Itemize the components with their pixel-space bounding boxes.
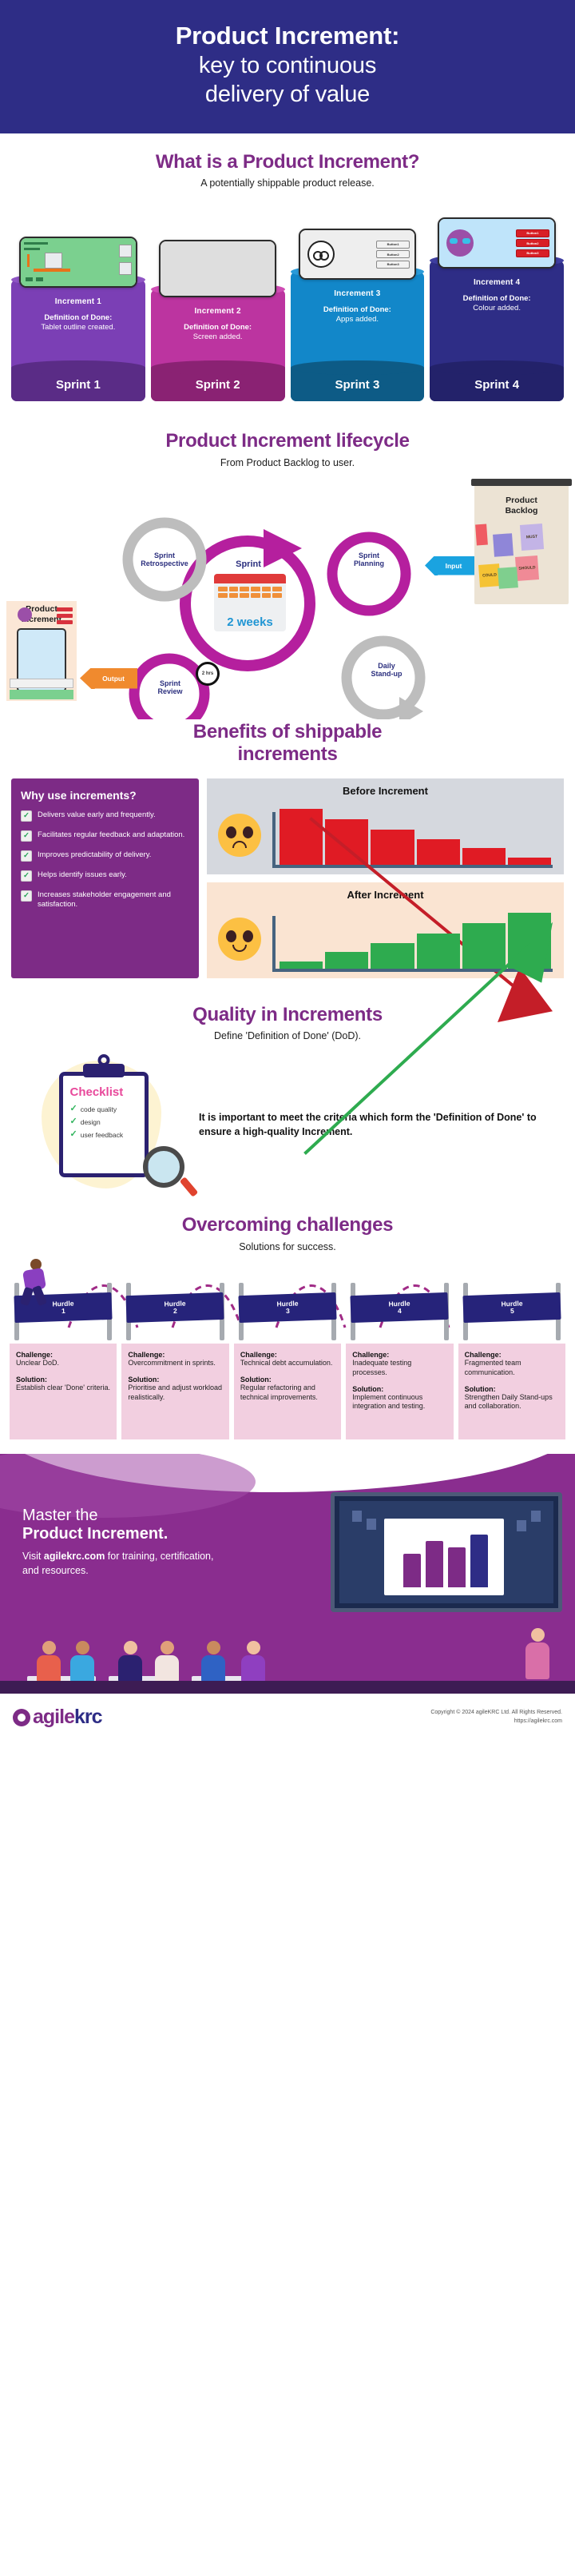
- check-icon: ✓: [21, 850, 32, 862]
- hurdle-2: Hurdle2: [121, 1283, 228, 1340]
- solution-text: Strengthen Daily Stand-ups and collabora…: [465, 1393, 559, 1412]
- increment-label-4: Increment 4: [436, 278, 557, 287]
- input-arrow: Input: [425, 556, 474, 575]
- solution-text: Implement continuous integration and tes…: [352, 1393, 446, 1412]
- dod-label-2: Definition of Done:: [157, 323, 279, 332]
- footer-url[interactable]: https://agilekrc.com: [430, 1718, 562, 1726]
- presentation-screen: [331, 1492, 562, 1612]
- chart-before-title: Before Increment: [215, 785, 556, 797]
- section-benefits: Benefits of shippable increments: [0, 721, 575, 766]
- node-label-line1: Sprint: [160, 679, 180, 687]
- challenge-label: Challenge:: [16, 1351, 110, 1359]
- why-item-text: Facilitates regular feedback and adaptat…: [38, 830, 184, 842]
- hurdle-board: Hurdle2: [126, 1292, 225, 1323]
- device-buttons-3: Button1 Button2 Button3: [376, 241, 410, 269]
- challenge-text: Fragmented team communication.: [465, 1359, 559, 1378]
- why-item-text: Increases stakeholder engagement and sat…: [38, 890, 189, 910]
- cta-line2: Product Increment.: [22, 1525, 230, 1543]
- device-button-2: Button2: [376, 250, 410, 258]
- lifecycle-title: Product Increment lifecycle: [11, 430, 564, 452]
- device-button-3: Button3: [516, 249, 549, 257]
- increment-label-1: Increment 1: [18, 297, 139, 306]
- increment-cylinder-3: Increment 3 Definition of Done: Apps add…: [291, 272, 425, 401]
- solution-card-1: Challenge: Unclear DoD. Solution: Establ…: [10, 1344, 117, 1439]
- page-subtitle-line2: delivery of value: [32, 80, 543, 109]
- hurdle-number: 3: [286, 1307, 290, 1315]
- solution-label: Solution:: [128, 1376, 222, 1384]
- increment-label-2: Increment 2: [157, 307, 279, 316]
- lifecycle-node-retrospective: Sprint Retrospective: [126, 551, 203, 568]
- hurdle-board: Hurdle5: [462, 1292, 561, 1323]
- sprint-label-4: Sprint 4: [474, 378, 519, 392]
- section-what-is: What is a Product Increment? A potential…: [0, 151, 575, 189]
- section-lifecycle: Product Increment lifecycle From Product…: [0, 430, 575, 468]
- person: [240, 1641, 267, 1682]
- lifecycle-diagram: Sprint Retrospective Sprint Sprint Plann…: [0, 480, 575, 719]
- solution-label: Solution:: [16, 1376, 110, 1384]
- crying-face-icon: [218, 814, 261, 857]
- output-label: Output: [102, 675, 125, 683]
- lifecycle-subtitle: From Product Backlog to user.: [11, 457, 564, 468]
- check-icon: ✓: [21, 870, 32, 882]
- hurdle-number: 5: [510, 1307, 514, 1315]
- solution-label: Solution:: [465, 1385, 559, 1393]
- node-label-line2: Review: [157, 687, 182, 695]
- colour-ui-icon: Button1 Button2 Button3: [439, 219, 554, 267]
- dod-text-1: Tablet outline created.: [18, 323, 139, 332]
- what-is-title: What is a Product Increment?: [11, 151, 564, 173]
- header-banner: Product Increment: key to continuous del…: [0, 0, 575, 133]
- cta-line3: Visit agilekrc.com for training, certifi…: [22, 1550, 230, 1579]
- hurdle-3: Hurdle3: [234, 1283, 341, 1340]
- device-mock-1: [19, 237, 137, 288]
- solution-card-2: Challenge: Overcommitment in sprints. So…: [121, 1344, 228, 1439]
- lifecycle-node-planning: Sprint Planning: [339, 551, 399, 568]
- increment-card-1: Increment 1 Definition of Done: Tablet o…: [11, 201, 145, 401]
- checklist-row: ✓ user feedback: [70, 1130, 145, 1139]
- sticky-must: MUST: [520, 524, 544, 551]
- audience-group: [0, 1607, 575, 1694]
- sprint-base-3: Sprint 3: [291, 368, 425, 401]
- node-label-line2: Planning: [354, 559, 384, 567]
- solution-text: Regular refactoring and technical improv…: [240, 1384, 335, 1403]
- lifecycle-node-review: Sprint Review: [142, 679, 198, 696]
- device-button-1: Button1: [376, 241, 410, 249]
- trend-line-up: [277, 906, 553, 1181]
- challenge-label: Challenge:: [128, 1351, 222, 1359]
- stopwatch-icon: 2 hrs: [196, 662, 220, 686]
- device-button-2: Button2: [516, 239, 549, 247]
- node-label-line1: Sprint: [359, 551, 379, 559]
- person: [69, 1641, 96, 1682]
- what-is-subtitle: A potentially shippable product release.: [11, 177, 564, 189]
- y-axis: [272, 916, 276, 972]
- sticky-blank-3: [475, 524, 488, 545]
- hurdle-4: Hurdle4: [346, 1283, 453, 1340]
- checklist-row: ✓ code quality: [70, 1105, 145, 1113]
- increment-cylinder-2: Increment 2 Definition of Done: Screen a…: [151, 289, 285, 401]
- why-item: ✓ Delivers value early and frequently.: [21, 810, 189, 822]
- product-backlog-board: Product Backlog MUST SHOULD COULD: [474, 484, 569, 604]
- footer-copyright: Copyright © 2024 agileKRC Ltd. All Right…: [430, 1709, 562, 1726]
- lifecycle-node-sprint: Sprint: [220, 559, 276, 570]
- benefit-charts: Before Increment: [207, 778, 564, 978]
- dod-label-3: Definition of Done:: [297, 305, 418, 314]
- sprint-label-2: Sprint 2: [196, 378, 240, 392]
- device-mock-2: [159, 240, 277, 297]
- node-label-line1: Daily: [378, 662, 395, 670]
- greyscale-ui-icon: Button1 Button2 Button3: [300, 230, 415, 278]
- device-button-1: Button1: [516, 229, 549, 237]
- solution-text: Establish clear 'Done' criteria.: [16, 1384, 110, 1393]
- hurdles-row: Hurdle1 Hurdle2 Hurdle3 Hurdle4: [0, 1272, 575, 1340]
- hurdle-board: Hurdle3: [238, 1292, 337, 1323]
- node-label-line2: Retrospective: [141, 559, 188, 567]
- solution-cards: Challenge: Unclear DoD. Solution: Establ…: [0, 1344, 575, 1439]
- dod-label-4: Definition of Done:: [436, 294, 557, 303]
- challenge-label: Challenge:: [352, 1351, 446, 1359]
- solution-card-5: Challenge: Fragmented team communication…: [458, 1344, 565, 1439]
- hurdle-number: 1: [61, 1307, 65, 1315]
- slide-board: [384, 1519, 504, 1595]
- increment-card-2: Increment 2 Definition of Done: Screen a…: [151, 201, 285, 401]
- solution-card-4: Challenge: Inadequate testing processes.…: [346, 1344, 453, 1439]
- solution-text: Prioritise and adjust workload realistic…: [128, 1384, 222, 1403]
- hurdle-5: Hurdle5: [458, 1283, 565, 1340]
- page-title: Product Increment:: [32, 21, 543, 51]
- cta-banner: Master the Product Increment. Visit agil…: [0, 1454, 575, 1694]
- page-subtitle-line1: key to continuous: [32, 51, 543, 81]
- table-front: [0, 1681, 575, 1694]
- challenge-text: Technical debt accumulation.: [240, 1359, 335, 1368]
- device-mock-3: Button1 Button2 Button3: [299, 229, 417, 280]
- star-eyes-face-icon: [218, 918, 261, 961]
- challenge-text: Inadequate testing processes.: [352, 1359, 446, 1378]
- challenge-label: Challenge:: [465, 1351, 559, 1359]
- board-rail: [471, 479, 572, 486]
- hurdle-number: 4: [398, 1307, 402, 1315]
- magnifier-icon: [143, 1146, 184, 1188]
- dod-text-3: Apps added.: [297, 315, 418, 324]
- dod-text-2: Screen added.: [157, 332, 279, 341]
- agilekrc-logo[interactable]: agile krc: [13, 1706, 102, 1729]
- infographic-page: Product Increment: key to continuous del…: [0, 0, 575, 2576]
- device-buttons-4: Button1 Button2 Button3: [516, 229, 549, 257]
- solution-label: Solution:: [240, 1376, 335, 1384]
- backlog-title: Product Backlog: [474, 496, 569, 516]
- person: [200, 1641, 227, 1682]
- solution-card-3: Challenge: Technical debt accumulation. …: [234, 1344, 341, 1439]
- why-item-text: Helps identify issues early.: [38, 870, 127, 882]
- logo-mark-icon: [13, 1709, 30, 1726]
- person: [117, 1641, 144, 1682]
- check-icon: ✓: [70, 1117, 77, 1126]
- checklist-item: user feedback: [81, 1131, 123, 1139]
- check-icon: ✓: [70, 1130, 77, 1139]
- why-item-text: Improves predictability of delivery.: [38, 850, 151, 862]
- challenges-subtitle: Solutions for success.: [11, 1241, 564, 1252]
- hurdle-track: Hurdle1 Hurdle2 Hurdle3 Hurdle4: [0, 1264, 575, 1340]
- logo-agile-text: agile: [33, 1706, 74, 1729]
- node-label-line2: Stand-up: [371, 670, 402, 678]
- backlog-title-line1: Product: [506, 496, 537, 505]
- why-item: ✓ Improves predictability of delivery.: [21, 850, 189, 862]
- hurdle-board: Hurdle4: [351, 1292, 450, 1323]
- dod-label-1: Definition of Done:: [18, 313, 139, 322]
- benefits-title-line1: Benefits of shippable: [11, 721, 564, 743]
- sprint-duration-label: 2 weeks: [214, 615, 286, 629]
- cta-text-block: Master the Product Increment. Visit agil…: [22, 1507, 230, 1579]
- check-icon: ✓: [21, 890, 32, 902]
- sprint-base-1: Sprint 1: [11, 368, 145, 401]
- checklist-row: ✓ design: [70, 1117, 145, 1126]
- why-card-title: Why use increments?: [21, 789, 189, 802]
- chart-after-plot: [272, 906, 553, 972]
- increment-cylinder-4: Increment 4 Definition of Done: Colour a…: [430, 261, 564, 401]
- check-icon: ✓: [21, 830, 32, 842]
- circuit-board-icon: [21, 238, 136, 286]
- blank-screen-icon: [161, 241, 276, 296]
- sprint-label-1: Sprint 1: [56, 378, 101, 392]
- checklist-item: code quality: [81, 1105, 117, 1113]
- node-label-line1: Sprint: [236, 559, 261, 569]
- logo-krc-text: krc: [74, 1706, 102, 1729]
- increment-cards: Increment 1 Definition of Done: Tablet o…: [0, 201, 575, 401]
- sticky-should: SHOULD: [515, 555, 539, 581]
- challenge-text: Overcommitment in sprints.: [128, 1359, 222, 1368]
- checklist-illustration: Checklist ✓ code quality ✓ design ✓ user…: [18, 1059, 189, 1191]
- sprint-base-2: Sprint 2: [151, 368, 285, 401]
- presenter: [524, 1628, 551, 1679]
- cta-visit-pre: Visit: [22, 1551, 44, 1562]
- footer: agile krc Copyright © 2024 agileKRC Ltd.…: [0, 1694, 575, 1742]
- why-item: ✓ Increases stakeholder engagement and s…: [21, 890, 189, 910]
- increment-device-icon: [17, 628, 66, 692]
- chart-before-plot: [272, 802, 553, 868]
- runner-icon: [18, 1259, 57, 1308]
- calendar-icon: 2 weeks: [214, 574, 286, 631]
- why-item-text: Delivers value early and frequently.: [38, 810, 156, 822]
- person: [153, 1641, 180, 1682]
- checklist-item: design: [81, 1118, 101, 1126]
- dod-text-4: Colour added.: [436, 304, 557, 313]
- solution-label: Solution:: [352, 1385, 446, 1393]
- why-item: ✓ Facilitates regular feedback and adapt…: [21, 830, 189, 842]
- chart-after-body: [215, 901, 556, 972]
- backlog-title-line2: Backlog: [506, 506, 538, 516]
- output-arrow: Output: [80, 668, 137, 689]
- y-axis: [272, 812, 276, 868]
- person: [35, 1641, 62, 1682]
- input-label: Input: [446, 562, 462, 570]
- cta-line1: Master the: [22, 1507, 230, 1525]
- review-timer-label: 2 hrs: [202, 671, 213, 676]
- benefits-content: Why use increments? ✓ Delivers value ear…: [0, 778, 575, 978]
- hurdle-number: 2: [173, 1307, 177, 1315]
- device-button-3: Button3: [376, 261, 410, 269]
- chart-before-body: [215, 797, 556, 868]
- why-item: ✓ Helps identify issues early.: [21, 870, 189, 882]
- sticky-blank-1: [493, 533, 514, 557]
- increment-label-3: Increment 3: [297, 289, 418, 298]
- check-icon: ✓: [21, 810, 32, 822]
- challenge-text: Unclear DoD.: [16, 1359, 110, 1368]
- why-use-increments-card: Why use increments? ✓ Delivers value ear…: [11, 778, 199, 978]
- sticky-blank-2: [498, 567, 518, 589]
- chart-before-increment: Before Increment: [207, 778, 564, 874]
- node-label-line1: Sprint: [154, 551, 175, 559]
- checklist-title: Checklist: [70, 1085, 145, 1099]
- copyright-text: Copyright © 2024 agileKRC Ltd. All Right…: [430, 1709, 562, 1718]
- increment-cylinder-1: Increment 1 Definition of Done: Tablet o…: [11, 280, 145, 401]
- section-challenges: Overcoming challenges Solutions for succ…: [0, 1214, 575, 1252]
- challenges-title: Overcoming challenges: [11, 1214, 564, 1236]
- clipboard-icon: Checklist ✓ code quality ✓ design ✓ user…: [59, 1072, 149, 1177]
- increment-card-3: Button1 Button2 Button3 Increment 3 Defi…: [291, 201, 425, 401]
- check-icon: ✓: [70, 1105, 77, 1113]
- sprint-label-3: Sprint 3: [335, 378, 379, 392]
- device-mock-4: Button1 Button2 Button3: [438, 217, 556, 269]
- sprint-base-4: Sprint 4: [430, 368, 564, 401]
- challenge-label: Challenge:: [240, 1351, 335, 1359]
- increment-card-4: Button1 Button2 Button3 Increment 4 Defi…: [430, 201, 564, 401]
- benefits-title-line2: increments: [11, 743, 564, 766]
- product-increment-panel: Product Increment: [6, 601, 77, 701]
- lifecycle-node-standup: Daily Stand-up: [356, 662, 417, 679]
- clipboard-clamp: [83, 1064, 125, 1077]
- cta-brand-link[interactable]: agilekrc.com: [44, 1551, 105, 1562]
